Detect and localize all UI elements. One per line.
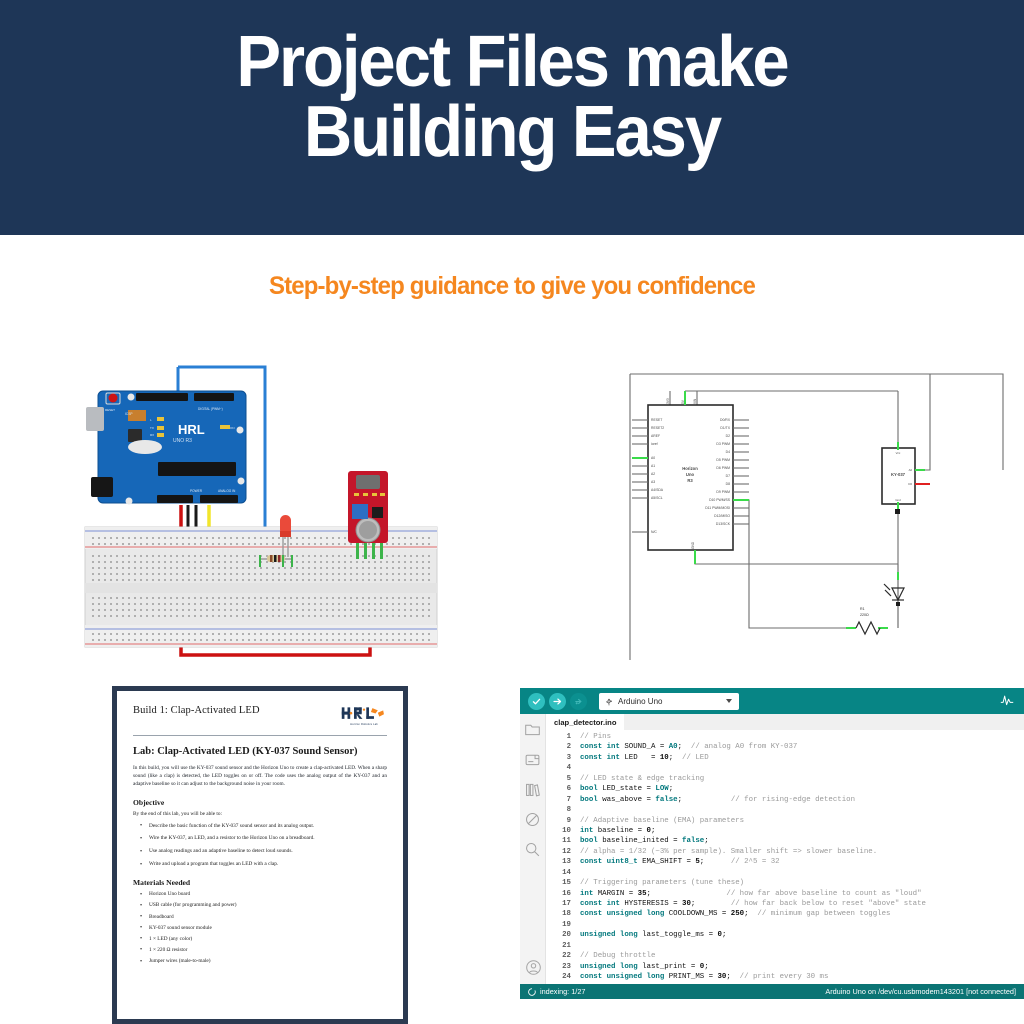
svg-text:D12/MISO: D12/MISO — [714, 514, 730, 518]
svg-text:Gnd: Gnd — [895, 498, 901, 502]
ide-activity-rail[interactable] — [520, 714, 546, 984]
svg-text:RESET: RESET — [651, 418, 662, 422]
svg-text:D2: D2 — [726, 434, 730, 438]
code-text: int MARGIN = 35; // how far above baseli… — [580, 890, 922, 898]
svg-text:D5 PWM: D5 PWM — [716, 458, 730, 462]
ide-toolbar: Arduino Uno — [520, 688, 1024, 714]
code-line: 13const uint8_t EMA_SHIFT = 5; // 2^5 = … — [546, 858, 1024, 868]
svg-text:ioref: ioref — [651, 442, 658, 446]
svg-text:RX: RX — [150, 433, 154, 437]
svg-text:A4/SDA: A4/SDA — [651, 488, 664, 492]
code-line: 23unsigned long last_print = 0; — [546, 963, 1024, 973]
line-number: 15 — [546, 879, 580, 887]
board-model-label: UNO R3 — [173, 438, 192, 444]
svg-text:A1: A1 — [651, 464, 655, 468]
usb-icon — [605, 697, 613, 706]
arduino-ide-window[interactable]: Arduino Uno — [520, 688, 1024, 1010]
svg-text:ON: ON — [230, 426, 235, 430]
svg-text:ICSP: ICSP — [125, 412, 132, 416]
svg-text:D3 PWM: D3 PWM — [716, 442, 730, 446]
hero-banner: Project Files make Building Easy — [0, 0, 1024, 235]
line-number: 21 — [546, 942, 580, 950]
debug-button[interactable] — [570, 693, 587, 710]
code-line: 11bool baseline_inited = false; — [546, 837, 1024, 847]
debug-icon[interactable] — [524, 811, 541, 828]
list-item: Use analog readings and an adaptive base… — [133, 848, 387, 856]
serial-plotter-icon[interactable] — [1000, 693, 1014, 712]
code-line: 5// LED state & edge tracking — [546, 775, 1024, 785]
svg-text:DIGITAL (PWM~): DIGITAL (PWM~) — [198, 407, 223, 411]
board-selector-value: Arduino Uno — [618, 697, 662, 706]
code-line: 10int baseline = 0; — [546, 827, 1024, 837]
svg-text:ANALOG IN: ANALOG IN — [218, 489, 236, 493]
line-number: 20 — [546, 931, 580, 939]
spinner-icon — [528, 988, 536, 996]
code-line: 18const unsigned long COOLDOWN_MS = 250;… — [546, 910, 1024, 920]
lab-document-panel[interactable]: Build 1: Clap-Activated LED — [112, 686, 408, 1024]
svg-text:A5/SCL: A5/SCL — [651, 496, 663, 500]
list-item: 1 × LED (any color) — [133, 936, 387, 944]
board-selector[interactable]: Arduino Uno — [599, 693, 739, 710]
code-line: 2const int SOUND_A = A0; // analog A0 fr… — [546, 743, 1024, 753]
code-text: unsigned long last_toggle_ms = 0; — [580, 931, 726, 939]
code-line: 4 — [546, 764, 1024, 774]
svg-text:A0: A0 — [651, 456, 655, 460]
svg-text:D6 PWM: D6 PWM — [716, 466, 730, 470]
svg-text:N/C: N/C — [651, 530, 657, 534]
hero-title-line1: Project Files make — [236, 22, 787, 102]
doc-objective-heading: Objective — [133, 798, 387, 807]
code-line: 14 — [546, 869, 1024, 879]
list-item: KY-037 sound sensor module — [133, 925, 387, 933]
svg-text:R3: R3 — [687, 478, 693, 483]
svg-text:POWER: POWER — [190, 489, 203, 493]
code-text: bool LED_state = LOW; — [580, 785, 673, 793]
line-number: 1 — [546, 733, 580, 741]
code-line: 21 — [546, 942, 1024, 952]
code-text: // Triggering parameters (tune these) — [580, 879, 744, 887]
code-line: 3const int LED = 10; // LED — [546, 754, 1024, 764]
line-number: 22 — [546, 952, 580, 960]
doc-build-title: Build 1: Clap-Activated LED — [133, 705, 260, 716]
breadboard-wiring-diagram: HRL UNO R3 DIGITAL (PWM~) POWER ANALOG I… — [60, 355, 440, 665]
code-line: 6bool LED_state = LOW; — [546, 785, 1024, 795]
svg-text:D1/TX: D1/TX — [720, 426, 730, 430]
hero-title-line2: Building Easy — [36, 98, 988, 168]
doc-intro-paragraph: In this build, you will use the KY-037 s… — [133, 764, 387, 789]
line-number: 4 — [546, 764, 580, 772]
boards-manager-icon[interactable] — [524, 751, 541, 768]
code-line: 7bool was_above = false; // for rising-e… — [546, 796, 1024, 806]
search-icon[interactable] — [524, 841, 541, 858]
page-title: Project Files make Building Easy — [36, 0, 988, 168]
code-text: const int HYSTERESIS = 30; // how far ba… — [580, 900, 926, 908]
line-number: 10 — [546, 827, 580, 835]
editor-tabbar: clap_detector.ino — [546, 714, 1024, 730]
account-icon[interactable] — [525, 959, 542, 976]
svg-text:RESET: RESET — [105, 408, 115, 412]
line-number: 17 — [546, 900, 580, 908]
list-item: Jumper wires (male-to-male) — [133, 958, 387, 966]
hrl-logo: Horizon Robotics Lab — [341, 705, 387, 726]
code-text: bool baseline_inited = false; — [580, 837, 709, 845]
code-text: bool was_above = false; // for rising-ed… — [580, 796, 855, 804]
doc-divider — [133, 735, 387, 736]
code-text: // LED state & edge tracking — [580, 775, 704, 783]
list-item: Horizon Uno board — [133, 891, 387, 899]
line-number: 14 — [546, 869, 580, 877]
svg-text:3V3: 3V3 — [666, 398, 670, 404]
code-text: // Pins — [580, 733, 611, 741]
list-item: Describe the basic function of the KY-03… — [133, 823, 387, 831]
ide-main: clap_detector.ino 1// Pins2const int SOU… — [546, 714, 1024, 984]
doc-objective-list: Describe the basic function of the KY-03… — [133, 823, 387, 870]
doc-materials-heading: Materials Needed — [133, 878, 387, 887]
svg-text:D9 PWM: D9 PWM — [716, 490, 730, 494]
status-indexing: indexing: 1/27 — [528, 987, 585, 996]
code-text: int baseline = 0; — [580, 827, 655, 835]
doc-materials-list: Horizon Uno board USB cable (for program… — [133, 891, 387, 966]
verify-button[interactable] — [528, 693, 545, 710]
code-text: // Adaptive baseline (EMA) parameters — [580, 817, 744, 825]
list-item: 1 × 220 Ω resistor — [133, 947, 387, 955]
list-item: Breadboard — [133, 914, 387, 922]
line-number: 6 — [546, 785, 580, 793]
line-number: 2 — [546, 743, 580, 751]
line-number: 8 — [546, 806, 580, 814]
line-number: 5 — [546, 775, 580, 783]
line-number: 9 — [546, 817, 580, 825]
svg-text:A2: A2 — [651, 472, 655, 476]
board-brand-label: HRL — [178, 422, 205, 437]
status-board-port: Arduino Uno on /dev/cu.usbmodem143201 [n… — [825, 987, 1016, 996]
code-line: 8 — [546, 806, 1024, 816]
list-item: Write and upload a program that toggles … — [133, 861, 387, 869]
line-number: 19 — [546, 921, 580, 929]
svg-text:A3: A3 — [651, 480, 655, 484]
svg-text:D10 PWM/SS: D10 PWM/SS — [709, 498, 731, 502]
tab-clap-detector-ino[interactable]: clap_detector.ino — [546, 714, 624, 730]
doc-lab-title: Lab: Clap-Activated LED (KY-037 Sound Se… — [133, 746, 387, 757]
code-line: 19 — [546, 921, 1024, 931]
code-line: 9// Adaptive baseline (EMA) parameters — [546, 817, 1024, 827]
svg-text:Uno: Uno — [686, 472, 695, 477]
code-text: // Debug throttle — [580, 952, 655, 960]
line-number: 3 — [546, 754, 580, 762]
svg-text:RESET2: RESET2 — [651, 426, 664, 430]
line-number: 7 — [546, 796, 580, 804]
svg-text:D0/RX: D0/RX — [720, 418, 731, 422]
svg-text:D7: D7 — [726, 474, 730, 478]
line-number: 23 — [546, 963, 580, 971]
code-text: // alpha = 1/32 (~3% per sample). Smalle… — [580, 848, 877, 856]
code-line: 17const int HYSTERESIS = 30; // how far … — [546, 900, 1024, 910]
code-line: 20unsigned long last_toggle_ms = 0; — [546, 931, 1024, 941]
svg-text:AREF: AREF — [651, 434, 660, 438]
code-line: 24const unsigned long PRINT_MS = 30; // … — [546, 973, 1024, 983]
code-line: 1// Pins — [546, 733, 1024, 743]
svg-text:VIN: VIN — [693, 398, 697, 404]
code-text: const int SOUND_A = A0; // analog A0 fro… — [580, 743, 797, 751]
svg-text:220Ω: 220Ω — [860, 613, 869, 617]
svg-text:GND: GND — [691, 541, 695, 549]
svg-text:TX: TX — [150, 426, 154, 430]
ide-body: clap_detector.ino 1// Pins2const int SOU… — [520, 714, 1024, 984]
code-text: const unsigned long COOLDOWN_MS = 250; /… — [580, 910, 890, 918]
library-manager-icon[interactable] — [524, 781, 541, 798]
list-item: Wire the KY-037, an LED, and a resistor … — [133, 835, 387, 843]
circuit-schematic: RESET RESET2 AREF ioref A0 A1 A2 A3 A4/S… — [620, 360, 1020, 660]
line-number: 13 — [546, 858, 580, 866]
code-text: const uint8_t EMA_SHIFT = 5; // 2^5 = 32 — [580, 858, 780, 866]
code-text: unsigned long last_print = 0; — [580, 963, 709, 971]
status-indexing-text: indexing: 1/27 — [540, 987, 585, 996]
svg-text:D0: D0 — [908, 482, 912, 486]
code-editor[interactable]: 1// Pins2const int SOUND_A = A0; // anal… — [546, 730, 1024, 984]
line-number: 24 — [546, 973, 580, 981]
svg-text:D8: D8 — [726, 482, 730, 486]
doc-objective-lead: By the end of this lab, you will be able… — [133, 811, 387, 819]
list-item: USB cable (for programming and power) — [133, 902, 387, 910]
line-number: 16 — [546, 890, 580, 898]
svg-text:R1: R1 — [860, 607, 865, 611]
upload-button[interactable] — [549, 693, 566, 710]
svg-text:D11 PWM/MOSI: D11 PWM/MOSI — [705, 506, 730, 510]
line-number: 18 — [546, 910, 580, 918]
code-line: 16int MARGIN = 35; // how far above base… — [546, 890, 1024, 900]
line-number: 12 — [546, 848, 580, 856]
svg-text:Vcc: Vcc — [896, 451, 901, 455]
svg-text:A0: A0 — [909, 468, 913, 472]
subheading: Step-by-step guidance to give you confid… — [20, 272, 1003, 301]
tabbar-empty — [624, 714, 1024, 730]
folder-icon[interactable] — [524, 721, 541, 738]
code-line: 15// Triggering parameters (tune these) — [546, 879, 1024, 889]
chevron-down-icon[interactable] — [726, 699, 732, 703]
svg-text:D4: D4 — [726, 450, 730, 454]
code-text: const unsigned long PRINT_MS = 30; // pr… — [580, 973, 828, 981]
hrl-logo-caption: Horizon Robotics Lab — [341, 723, 387, 726]
ide-status-bar: indexing: 1/27 Arduino Uno on /dev/cu.us… — [520, 984, 1024, 999]
code-line: 22// Debug throttle — [546, 952, 1024, 962]
svg-text:D13/SCK: D13/SCK — [716, 522, 731, 526]
code-text: const int LED = 10; // LED — [580, 754, 709, 762]
svg-text:KY-037: KY-037 — [891, 472, 906, 477]
line-number: 11 — [546, 837, 580, 845]
code-line: 12// alpha = 1/32 (~3% per sample). Smal… — [546, 848, 1024, 858]
svg-text:Horizon: Horizon — [682, 466, 698, 471]
